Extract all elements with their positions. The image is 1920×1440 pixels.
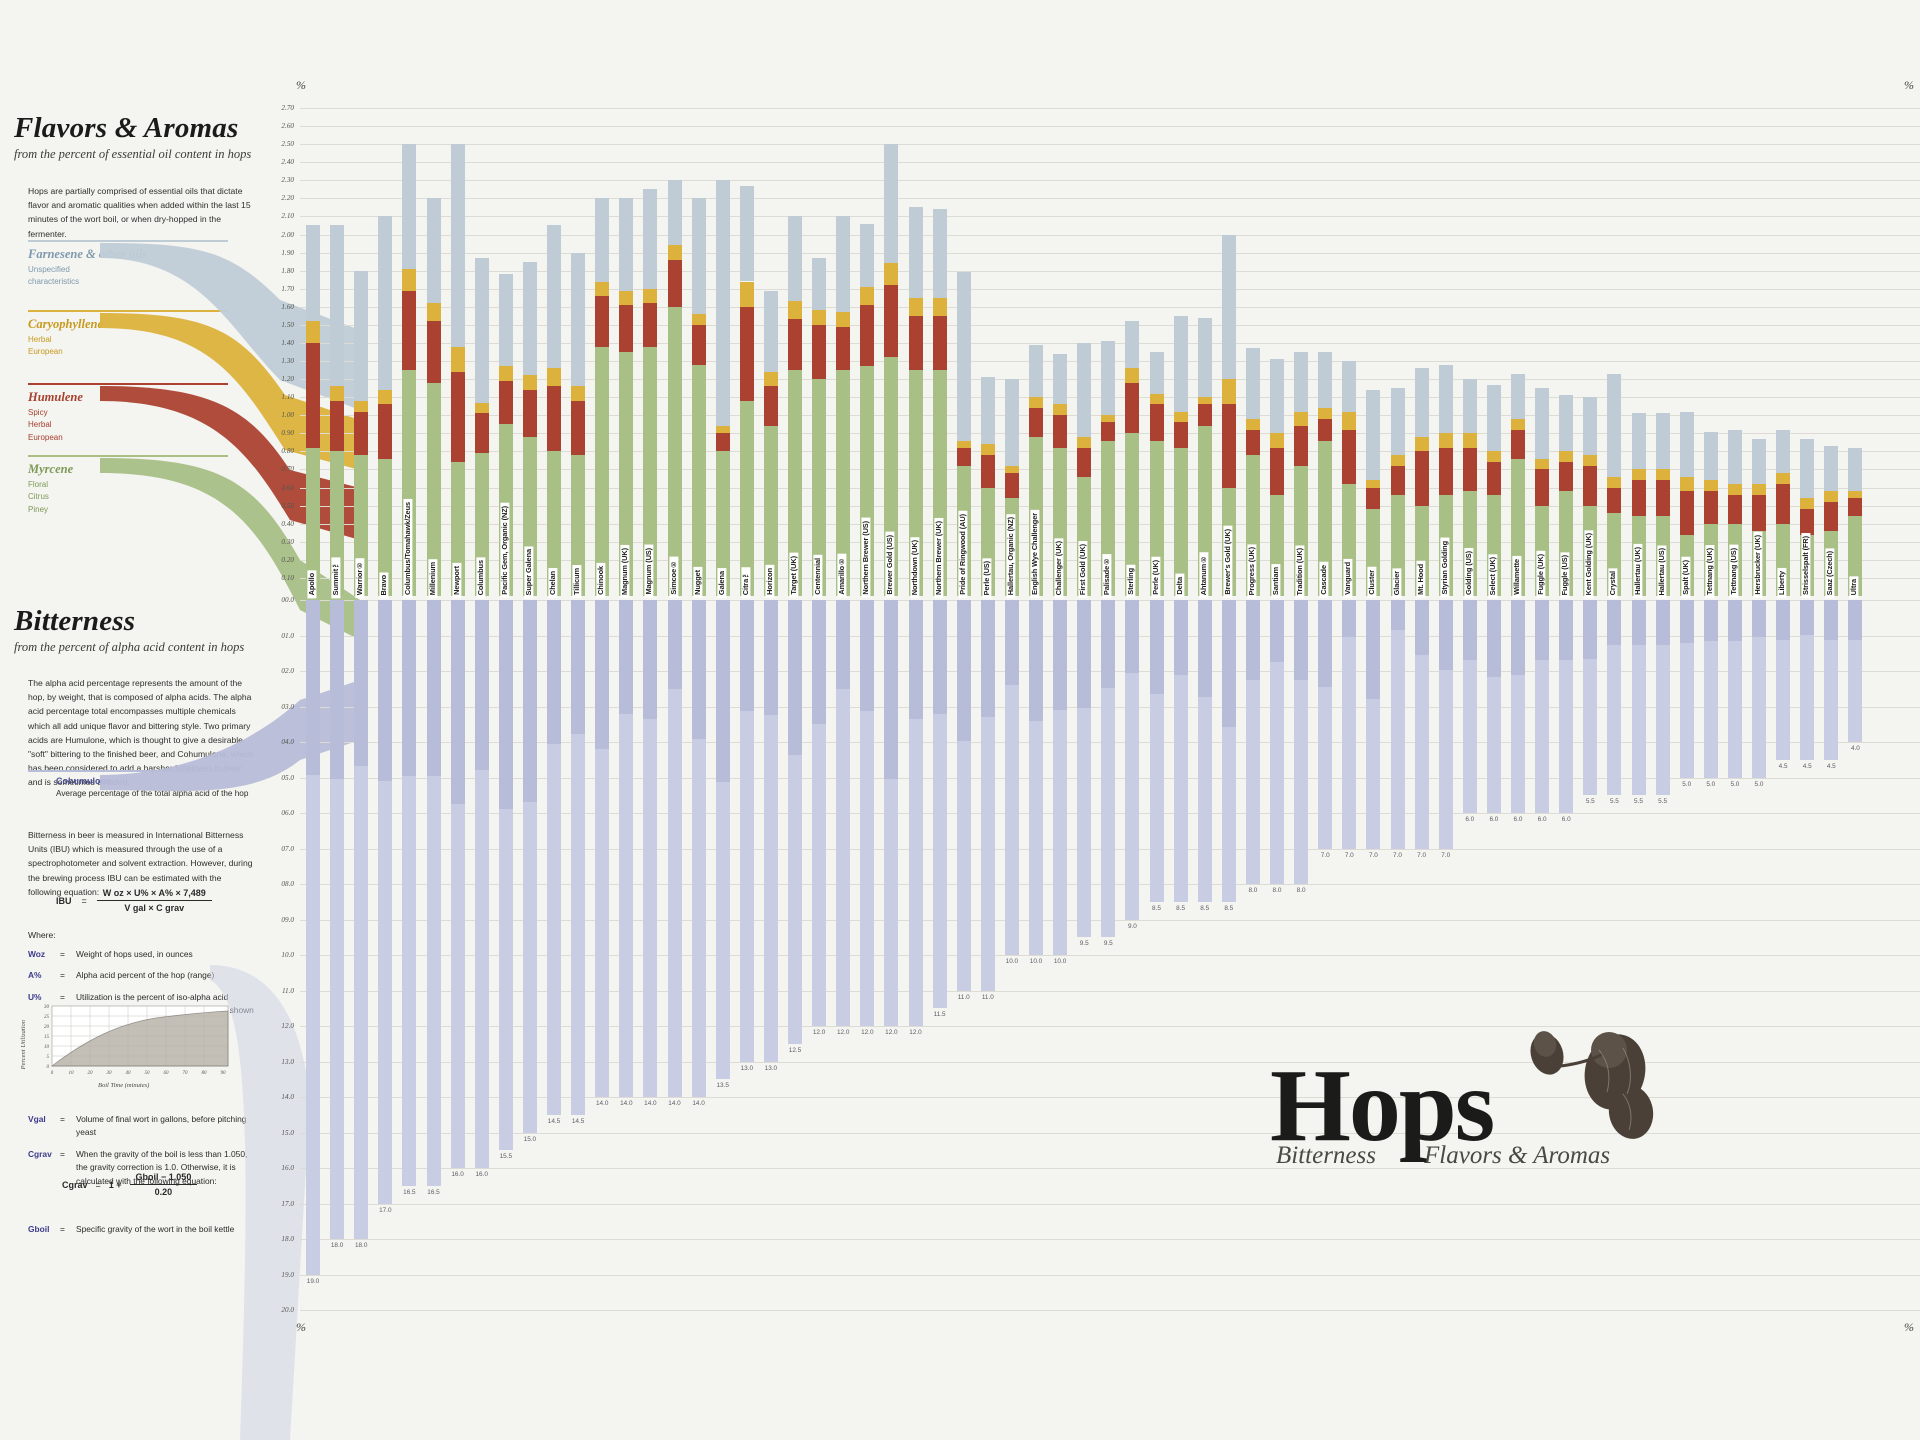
bottom-axis-tick: 07.0: [260, 845, 294, 853]
hop-label: Select (UK): [1488, 554, 1497, 598]
bar-segment-caryophyllene: [1511, 419, 1525, 430]
bar-segment-farnesene: [1656, 413, 1670, 469]
bar-segment-humulene: [740, 307, 754, 401]
bar-segment-caryophyllene: [499, 366, 513, 380]
hop-label: Galena: [717, 568, 726, 598]
bar-segment-humulene: [1607, 488, 1621, 513]
bar-value-label: 16.0: [447, 1171, 469, 1178]
bar-segment-farnesene: [1270, 359, 1284, 433]
bottom-axis-tick: 08.0: [260, 880, 294, 888]
bar-value-label: 12.0: [808, 1029, 830, 1036]
bar-segment-farnesene: [1607, 374, 1621, 477]
bar-segment-cohumulone: [692, 600, 706, 739]
bar-segment-farnesene: [692, 198, 706, 314]
bar-segment-farnesene: [354, 271, 368, 401]
cohumulone-label: Cohumulone: [56, 776, 260, 786]
logo-sub-flavors: Flavors & Aromas: [1424, 1142, 1610, 1170]
bar-segment-humulene: [643, 303, 657, 346]
flavors-subtitle: from the percent of essential oil conten…: [14, 147, 276, 162]
bar-segment-farnesene: [1559, 395, 1573, 451]
bar-segment-cohumulone: [1125, 600, 1139, 673]
bar-segment-caryophyllene: [619, 291, 633, 305]
bar-value-label: 12.0: [832, 1029, 854, 1036]
ibu-lhs: IBU: [56, 896, 72, 906]
bar-value-label: 7.0: [1387, 852, 1409, 859]
bar-segment-farnesene: [933, 209, 947, 298]
bar-segment-cohumulone: [884, 600, 898, 779]
bar-segment-humulene: [1198, 404, 1212, 426]
cgrav-lhs: Cgrav: [62, 1180, 88, 1190]
bar-value-label: 8.0: [1266, 887, 1288, 894]
bar-segment-caryophyllene: [957, 441, 971, 448]
bar-value-label: 15.5: [495, 1153, 517, 1160]
bar-segment-humulene: [1583, 466, 1597, 506]
hop-label: Super Galena: [524, 546, 533, 598]
bar-segment-cohumulone: [1174, 600, 1188, 675]
bar-value-label: 14.0: [688, 1100, 710, 1107]
where-val-woz: Weight of hops used, in ounces: [76, 948, 260, 961]
bar-segment-farnesene: [981, 377, 995, 444]
bar-segment-humulene: [619, 305, 633, 352]
bar-segment-farnesene: [716, 180, 730, 426]
bar-segment-farnesene: [1174, 316, 1188, 412]
where-row-alpha: A% = Alpha acid percent of the hop (rang…: [28, 969, 260, 982]
bar-segment-cohumulone: [1415, 600, 1429, 655]
bar-segment-cohumulone: [571, 600, 585, 734]
bar-segment-farnesene: [1439, 365, 1453, 434]
hop-label: Horizon: [765, 565, 774, 598]
top-axis-tick: 2.10: [260, 212, 294, 220]
top-axis-tick: 1.00: [260, 411, 294, 419]
bar-segment-humulene: [1776, 484, 1790, 524]
bar-segment-farnesene: [740, 186, 754, 282]
bar-segment-cohumulone: [354, 600, 368, 766]
bar-segment-cohumulone: [1270, 600, 1284, 662]
svg-text:50: 50: [145, 1071, 151, 1076]
hop-label: First Gold (UK): [1078, 541, 1087, 598]
bar-segment-farnesene: [523, 262, 537, 376]
bar-segment-cohumulone: [1439, 600, 1453, 670]
bar-segment-caryophyllene: [451, 347, 465, 372]
bar-segment-cohumulone: [451, 600, 465, 804]
bar-value-label: 9.5: [1097, 940, 1119, 947]
bar-segment-humulene: [1366, 488, 1380, 510]
bar-segment-humulene: [1415, 451, 1429, 505]
bar-segment-caryophyllene: [547, 368, 561, 386]
bar-segment-farnesene: [1366, 390, 1380, 480]
hop-label: Santiam: [1271, 564, 1280, 598]
hop-label: Summit™: [331, 557, 340, 598]
where-key-woz: Woz: [28, 948, 54, 961]
cgrav-equation: Cgrav = 1 + Gboil − 1.050 0.20: [62, 1172, 197, 1197]
top-axis-tick: 0.40: [260, 520, 294, 528]
top-axis-tick: 1.40: [260, 339, 294, 347]
bottom-axis-tick: 14.0: [260, 1093, 294, 1101]
svg-text:10: 10: [44, 1045, 50, 1050]
top-axis-tick: 0.10: [260, 574, 294, 582]
bar-segment-cohumulone: [1680, 600, 1694, 643]
legend-myrcene-desc: Floral Citrus Piney: [28, 479, 228, 516]
bar-segment-farnesene: [330, 225, 344, 386]
bar-segment-humulene: [909, 316, 923, 370]
top-axis-tick: 2.30: [260, 176, 294, 184]
hop-label: Magnum (US): [644, 545, 653, 598]
hop-label: Citra™: [741, 567, 750, 598]
top-axis-tick: 0.90: [260, 429, 294, 437]
bar-segment-myrcene: [668, 307, 682, 596]
bar-value-label: 5.0: [1676, 781, 1698, 788]
gridline: [300, 271, 1920, 272]
hop-label: Tillicum: [572, 565, 581, 598]
ibu-numerator: W oz × U% × A% × 7,489: [97, 888, 212, 901]
hop-label: Kent Golding (UK): [1584, 530, 1593, 598]
bar-segment-humulene: [1848, 498, 1862, 516]
bar-segment-cohumulone: [1294, 600, 1308, 680]
svg-text:20: 20: [88, 1071, 94, 1076]
svg-text:20: 20: [44, 1025, 50, 1030]
where-label: Where:: [28, 930, 260, 940]
bar-segment-cohumulone: [716, 600, 730, 782]
hop-label: Challenger (UK): [1054, 538, 1063, 598]
bottom-axis-tick: 19.0: [260, 1271, 294, 1279]
cgrav-denominator: 0.20: [130, 1185, 198, 1197]
bar-segment-farnesene: [668, 180, 682, 245]
bar-value-label: 16.5: [423, 1189, 445, 1196]
legend-myrcene: Myrcene Floral Citrus Piney: [28, 455, 228, 516]
bar-value-label: 6.0: [1459, 816, 1481, 823]
bottom-axis-tick: 01.0: [260, 632, 294, 640]
gridline: [300, 162, 1920, 163]
gridline: [300, 1275, 1920, 1276]
bar-segment-cohumulone: [643, 600, 657, 719]
bar-value-label: 13.5: [712, 1082, 734, 1089]
bar-value-label: 5.5: [1628, 798, 1650, 805]
bar-value-label: 14.0: [591, 1100, 613, 1107]
bar-segment-farnesene: [1848, 448, 1862, 491]
hops-logo: Hops Bitterness Flavors & Aromas: [1270, 1020, 1790, 1180]
bar-value-label: 18.0: [326, 1242, 348, 1249]
legend-farnesene: Farnesene & other oils Unspecified chara…: [28, 240, 228, 289]
legend-caryophyllene-desc: Herbal European: [28, 334, 228, 359]
bar-segment-caryophyllene: [1800, 498, 1814, 509]
top-axis-tick: 2.60: [260, 122, 294, 130]
bar-value-label: 6.0: [1483, 816, 1505, 823]
bar-segment-farnesene: [1704, 432, 1718, 481]
bar-segment-humulene: [1270, 448, 1284, 495]
bar-value-label: 4.5: [1772, 763, 1794, 770]
bar-segment-caryophyllene: [571, 386, 585, 400]
bar-segment-alpha-acid: [1342, 600, 1356, 849]
bar-segment-humulene: [1174, 422, 1188, 447]
bar-segment-humulene: [402, 291, 416, 371]
bottom-axis-tick: 20.0: [260, 1306, 294, 1314]
hop-label: Glacier: [1392, 568, 1401, 598]
bar-segment-cohumulone: [1005, 600, 1019, 685]
svg-text:0: 0: [51, 1071, 54, 1076]
hop-label: Hallertau (UK): [1633, 544, 1642, 598]
gridline: [300, 126, 1920, 127]
bottom-axis-tick: 10.0: [260, 951, 294, 959]
hop-label: Styrian Golding: [1440, 538, 1449, 598]
bar-segment-caryophyllene: [788, 301, 802, 319]
bar-segment-cohumulone: [1053, 600, 1067, 710]
bar-segment-cohumulone: [860, 600, 874, 711]
bar-segment-cohumulone: [981, 600, 995, 717]
bar-segment-caryophyllene: [1487, 451, 1501, 462]
gridline: [300, 991, 1920, 992]
bar-segment-humulene: [884, 285, 898, 357]
svg-text:70: 70: [183, 1071, 189, 1076]
hop-label: Target (UK): [789, 553, 798, 598]
hop-label: Nugget: [693, 567, 702, 598]
top-axis-tick: 2.20: [260, 194, 294, 202]
bar-segment-farnesene: [475, 258, 489, 403]
svg-text:5: 5: [47, 1055, 50, 1060]
cohumulone-desc: Average percentage of the total alpha ac…: [56, 789, 260, 798]
ibu-equals: =: [82, 896, 87, 906]
bar-segment-humulene: [1101, 422, 1115, 440]
hop-label: Liberty: [1777, 568, 1786, 598]
bar-segment-farnesene: [1077, 343, 1091, 437]
legend-caryophyllene: Caryophyllene Herbal European: [28, 310, 228, 359]
bar-segment-cohumulone: [330, 600, 344, 779]
top-axis-tick: 1.90: [260, 249, 294, 257]
bar-segment-cohumulone: [1752, 600, 1766, 637]
svg-text:10: 10: [69, 1071, 75, 1076]
bar-value-label: 8.0: [1290, 887, 1312, 894]
bar-value-label: 8.5: [1170, 905, 1192, 912]
bar-segment-farnesene: [1005, 379, 1019, 466]
bar-value-label: 19.0: [302, 1278, 324, 1285]
bar-segment-humulene: [1294, 426, 1308, 466]
bar-segment-farnesene: [547, 225, 561, 368]
top-axis-tick: 2.70: [260, 104, 294, 112]
bar-segment-caryophyllene: [523, 375, 537, 389]
bar-segment-cohumulone: [1029, 600, 1043, 721]
cohumulone-legend: Cohumulone Average percentage of the tot…: [28, 770, 260, 798]
gridline: [300, 1310, 1920, 1311]
bar-segment-humulene: [788, 319, 802, 370]
where-row-vgal: Vgal = Volume of final wort in gallons, …: [28, 1113, 260, 1140]
bar-segment-cohumulone: [1559, 600, 1573, 660]
bottom-axis-tick: 13.0: [260, 1058, 294, 1066]
bar-segment-farnesene: [499, 274, 513, 366]
utilization-ylabel: Percent Utilization: [20, 1020, 27, 1069]
bottom-axis-tick: 16.0: [260, 1164, 294, 1172]
hop-label: Northern Brewer (US): [861, 518, 870, 598]
bar-segment-humulene: [1656, 480, 1670, 516]
bar-segment-caryophyllene: [1632, 469, 1646, 480]
bottom-axis-tick: 12.0: [260, 1022, 294, 1030]
bottom-axis-tick: 03.0: [260, 703, 294, 711]
bar-segment-farnesene: [812, 258, 826, 310]
bar-segment-humulene: [1559, 462, 1573, 491]
bar-value-label: 14.0: [664, 1100, 686, 1107]
bar-segment-farnesene: [595, 198, 609, 281]
cgrav-equals: =: [96, 1180, 101, 1190]
legend-humulene-desc: Spicy Herbal European: [28, 407, 228, 444]
bar-segment-cohumulone: [1487, 600, 1501, 677]
bar-segment-humulene: [499, 381, 513, 424]
bar-segment-cohumulone: [1101, 600, 1115, 688]
hops-chart: % % % % 2.702.702.602.602.502.502.402.40…: [300, 0, 1920, 1440]
bar-segment-caryophyllene: [1077, 437, 1091, 448]
bar-segment-caryophyllene: [402, 269, 416, 291]
ibu-equation: IBU = W oz × U% × A% × 7,489 V gal × C g…: [56, 888, 212, 913]
bar-segment-cohumulone: [1198, 600, 1212, 697]
bar-value-label: 4.5: [1820, 763, 1842, 770]
bar-segment-caryophyllene: [1704, 480, 1718, 491]
bar-segment-farnesene: [1246, 348, 1260, 418]
bar-segment-humulene: [1222, 404, 1236, 487]
hop-label: Hersbrucker (UK): [1753, 532, 1762, 598]
bottom-axis-tick: 17.0: [260, 1200, 294, 1208]
bar-value-label: 16.0: [471, 1171, 493, 1178]
gridline: [300, 144, 1920, 145]
bar-segment-cohumulone: [1848, 600, 1862, 640]
bottom-axis-tick: 09.0: [260, 916, 294, 924]
hop-label: Fuggle (UK): [1536, 551, 1545, 598]
bar-segment-cohumulone: [957, 600, 971, 741]
bitterness-heading-block: Bitterness from the percent of alpha aci…: [14, 605, 276, 655]
legend-caryophyllene-name: Caryophyllene: [28, 317, 228, 332]
hop-label: Cluster: [1367, 567, 1376, 598]
bar-segment-caryophyllene: [1318, 408, 1332, 419]
top-axis-tick: 1.50: [260, 321, 294, 329]
legend-farnesene-desc: Unspecified characteristics: [28, 264, 228, 289]
bar-segment-cohumulone: [523, 600, 537, 802]
left-info-panel: Flavors & Aromas from the percent of ess…: [0, 0, 300, 1440]
where-key-cgrav: Cgrav: [28, 1148, 54, 1188]
bar-segment-humulene: [1029, 408, 1043, 437]
bar-segment-cohumulone: [740, 600, 754, 711]
bar-segment-cohumulone: [1656, 600, 1670, 645]
bitterness-title: Bitterness: [14, 605, 276, 638]
bar-segment-cohumulone: [402, 600, 416, 776]
bar-segment-caryophyllene: [1415, 437, 1429, 451]
bar-segment-farnesene: [788, 216, 802, 301]
hop-label: Warrior®: [355, 558, 364, 598]
bottom-axis-tick: 06.0: [260, 809, 294, 817]
where-val-alpha: Alpha acid percent of the hop (range): [76, 969, 260, 982]
bar-segment-humulene: [860, 305, 874, 366]
bar-segment-farnesene: [1824, 446, 1838, 491]
bottom-axis-tick: 05.0: [260, 774, 294, 782]
hop-label: Delta: [1175, 574, 1184, 598]
bar-value-label: 7.0: [1314, 852, 1336, 859]
bottom-axis-tick: 11.0: [260, 987, 294, 995]
gridline: [300, 235, 1920, 236]
svg-text:15: 15: [44, 1035, 50, 1040]
bar-value-label: 11.0: [953, 994, 975, 1001]
gridline: [300, 1204, 1920, 1205]
bar-value-label: 5.0: [1724, 781, 1746, 788]
bar-value-label: 18.0: [350, 1242, 372, 1249]
bar-segment-caryophyllene: [1005, 466, 1019, 473]
bar-segment-humulene: [330, 401, 344, 452]
bar-segment-cohumulone: [1583, 600, 1597, 659]
bar-value-label: 5.5: [1652, 798, 1674, 805]
hop-label: Millenium: [428, 559, 437, 598]
gridline: [300, 216, 1920, 217]
bottom-axis-pct-left: %: [296, 1320, 306, 1335]
bar-segment-cohumulone: [1535, 600, 1549, 660]
hop-label: Newport: [452, 563, 461, 598]
bar-segment-humulene: [1487, 462, 1501, 495]
hop-label: Fuggle (US): [1560, 552, 1569, 598]
bar-segment-humulene: [1439, 448, 1453, 495]
hop-label: Ahtanum®: [1199, 552, 1208, 598]
hop-label: Hallertau (US): [1657, 545, 1666, 598]
bar-segment-farnesene: [909, 207, 923, 297]
bar-segment-caryophyllene: [692, 314, 706, 325]
top-axis-pct-right: %: [1904, 78, 1914, 93]
bar-value-label: 12.0: [856, 1029, 878, 1036]
where-eq-gboil: =: [60, 1223, 70, 1236]
top-axis-tick: 0.60: [260, 484, 294, 492]
bottom-axis-tick: 15.0: [260, 1129, 294, 1137]
bar-segment-farnesene: [836, 216, 850, 312]
bar-segment-farnesene: [1101, 341, 1115, 415]
hop-label: Amarillo®: [837, 554, 846, 598]
hop-label: English Wye Challenger: [1030, 510, 1039, 598]
where-val-vgal: Volume of final wort in gallons, before …: [76, 1113, 260, 1140]
bar-segment-cohumulone: [1800, 600, 1814, 635]
bar-segment-caryophyllene: [643, 289, 657, 303]
bar-segment-humulene: [1125, 383, 1139, 434]
bar-segment-farnesene: [1535, 388, 1549, 458]
hop-label: Centennial: [813, 555, 822, 598]
hop-label: Progress (UK): [1247, 544, 1256, 598]
hop-label: Perle (UK): [1151, 557, 1160, 598]
bar-segment-caryophyllene: [764, 372, 778, 386]
where-eq-woz: =: [60, 948, 70, 961]
bar-segment-humulene: [571, 401, 585, 455]
bar-segment-caryophyllene: [1824, 491, 1838, 502]
where-key-gboil: Gboil: [28, 1223, 54, 1236]
bar-segment-farnesene: [957, 272, 971, 440]
bar-value-label: 7.0: [1362, 852, 1384, 859]
svg-text:40: 40: [126, 1071, 132, 1076]
bar-value-label: 13.0: [736, 1065, 758, 1072]
hop-label: Strisselspalt (FR): [1801, 533, 1810, 598]
where-eq-vgal: =: [60, 1113, 70, 1140]
bar-segment-caryophyllene: [427, 303, 441, 321]
bottom-axis-tick: 02.0: [260, 667, 294, 675]
bar-segment-farnesene: [402, 144, 416, 269]
bar-segment-humulene: [547, 386, 561, 451]
bar-segment-farnesene: [1222, 235, 1236, 380]
where-key-alpha: A%: [28, 969, 54, 982]
flavors-heading-block: Flavors & Aromas from the percent of ess…: [14, 112, 276, 162]
bar-segment-humulene: [692, 325, 706, 365]
bar-segment-farnesene: [1415, 368, 1429, 437]
bar-segment-humulene: [668, 260, 682, 307]
bitterness-subtitle: from the percent of alpha acid content i…: [14, 640, 276, 655]
bar-segment-cohumulone: [1222, 600, 1236, 727]
bar-segment-caryophyllene: [1270, 433, 1284, 447]
bar-value-label: 12.5: [784, 1047, 806, 1054]
bar-segment-cohumulone: [788, 600, 802, 755]
bar-segment-caryophyllene: [1728, 484, 1742, 495]
bar-segment-caryophyllene: [1848, 491, 1862, 498]
bar-segment-humulene: [354, 412, 368, 455]
bar-value-label: 4.0: [1844, 745, 1866, 752]
bottom-axis-tick: 18.0: [260, 1235, 294, 1243]
gridline: [300, 307, 1920, 308]
hop-label: Spalt (UK): [1681, 557, 1690, 598]
bar-segment-farnesene: [619, 198, 633, 290]
